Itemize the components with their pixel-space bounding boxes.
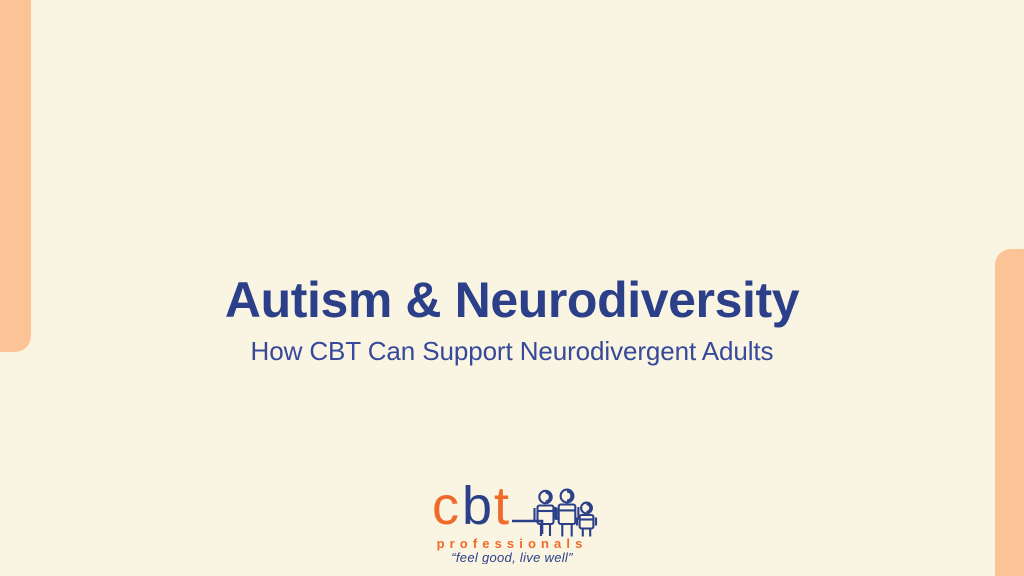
- logo-subtext: professionals: [437, 536, 588, 551]
- logo-letter-t: t: [494, 476, 509, 536]
- logo-tagline: “feel good, live well”: [451, 550, 573, 564]
- page-title: Autism & Neurodiversity: [0, 272, 1024, 328]
- slide-canvas: Autism & Neurodiversity How CBT Can Supp…: [0, 0, 1024, 576]
- three-people-icon: [535, 490, 597, 537]
- logo-letter-b: b: [462, 476, 492, 536]
- logo-letter-c: c: [432, 476, 459, 536]
- page-subtitle: How CBT Can Support Neurodivergent Adult…: [0, 336, 1024, 367]
- title-block: Autism & Neurodiversity How CBT Can Supp…: [0, 272, 1024, 367]
- cbt-professionals-logo: c b t: [424, 472, 600, 564]
